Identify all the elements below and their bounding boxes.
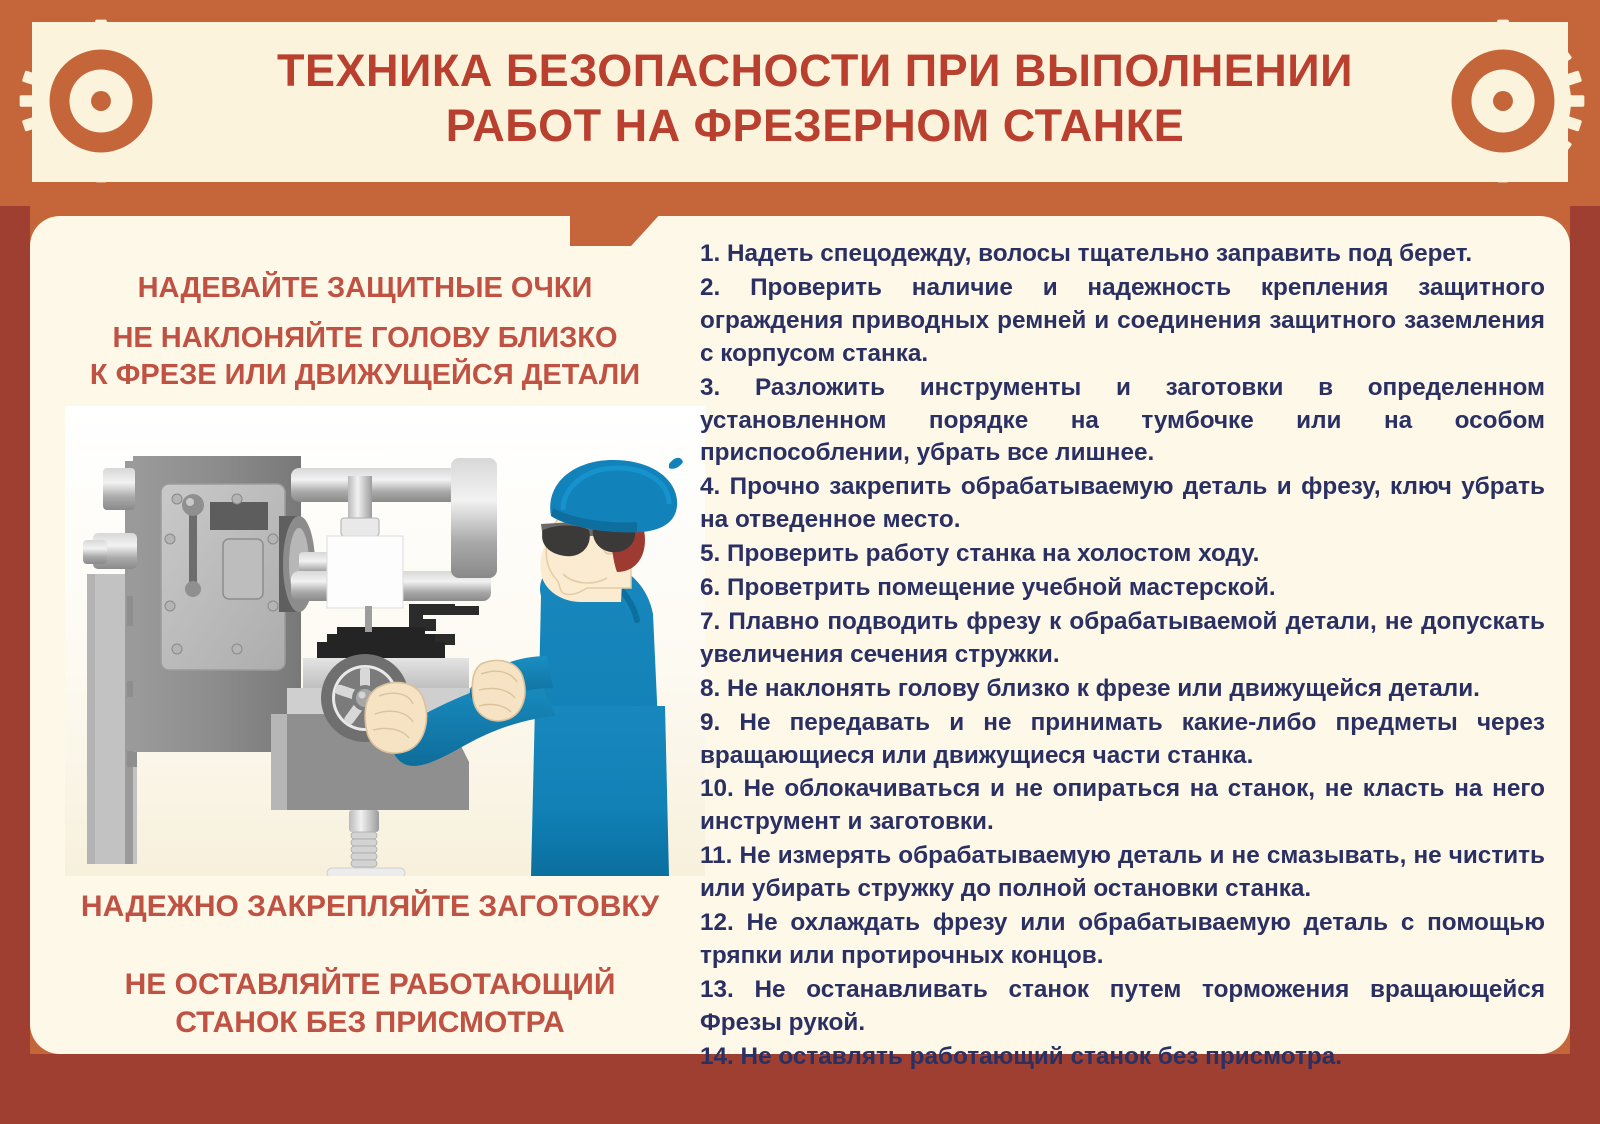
rule-item: 4. Прочно закрепить обрабатываемую детал… [700,471,1545,537]
frame-right-border [1570,200,1600,1124]
rule-item: 3. Разложить инструменты и заготовки в о… [700,372,1545,471]
warning-clamp-workpiece: НАДЕЖНО ЗАКРЕПЛЯЙТЕ ЗАГОТОВКУ [50,888,690,926]
warning-wear-safety-glasses: НАДЕВАЙТЕ ЗАЩИТНЫЕ ОЧКИ [40,270,690,307]
safety-poster: ТЕХНИКА БЕЗОПАСНОСТИ ПРИ ВЫПОЛНЕНИИ РАБО… [0,0,1600,1124]
rule-item: 12. Не охлаждать фрезу или обрабатываему… [700,907,1545,973]
left-column: НАДЕВАЙТЕ ЗАЩИТНЫЕ ОЧКИ НЕ НАКЛОНЯЙТЕ ГО… [40,228,690,1046]
rule-item: 8. Не наклонять голову близко к фрезе ил… [700,673,1545,706]
rule-item: 14. Не оставлять работающий станок без п… [700,1041,1545,1074]
rule-item: 2. Проверить наличие и надежность крепле… [700,272,1545,371]
gear-icon [18,18,184,184]
rule-item: 10. Не облокачиваться и не опираться на … [700,773,1545,839]
safety-rules-list: 1. Надеть спецодежду, волосы тщательно з… [700,238,1545,1075]
page-title: ТЕХНИКА БЕЗОПАСНОСТИ ПРИ ВЫПОЛНЕНИИ РАБО… [190,44,1440,154]
rule-item: 9. Не передавать и не принимать какие-ли… [700,707,1545,773]
warning-keep-head-away: НЕ НАКЛОНЯЙТЕ ГОЛОВУ БЛИЗКО К ФРЕЗЕ ИЛИ … [40,320,690,393]
rule-item: 6. Проветрить помещение учебной мастерск… [700,572,1545,605]
milling-machine-operator-illustration [65,406,705,876]
rule-item: 7. Плавно подводить фрезу к обрабатываем… [700,606,1545,672]
gear-icon [1420,18,1586,184]
header-band: ТЕХНИКА БЕЗОПАСНОСТИ ПРИ ВЫПОЛНЕНИИ РАБО… [0,0,1600,206]
rule-item: 11. Не измерять обрабатываемую деталь и … [700,840,1545,906]
warning-do-not-leave-unattended: НЕ ОСТАВЛЯЙТЕ РАБОТАЮЩИЙ СТАНОК БЕЗ ПРИС… [50,966,690,1042]
rule-item: 13. Не останавливать станок путем тормож… [700,974,1545,1040]
frame-left-border [0,200,30,1124]
rule-item: 1. Надеть спецодежду, волосы тщательно з… [700,238,1545,271]
rule-item: 5. Проверить работу станка на холостом х… [700,538,1545,571]
